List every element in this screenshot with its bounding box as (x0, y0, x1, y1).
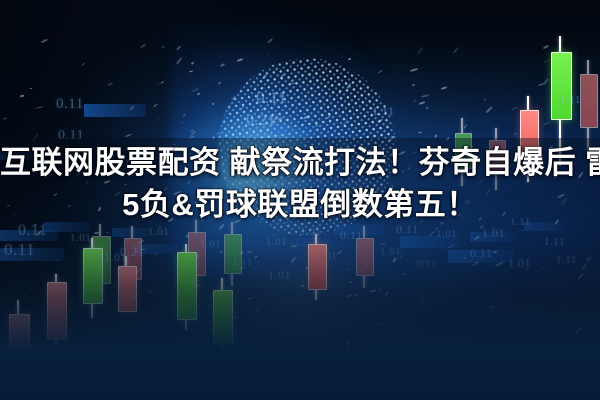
page-title: 互联网股票配资 献祭流打法！芬奇自爆后 雷霆5胜 5负&罚球联盟倒数第五！ (0, 142, 600, 226)
banner-image: 0.110.110.211.111.110.110.110.111.011.01… (0, 0, 600, 400)
headline-line-1: 互联网股票配资 献祭流打法！芬奇自爆后 雷霆5胜 (0, 142, 600, 184)
headline-line-2: 5负&罚球联盟倒数第五！ (0, 184, 600, 226)
